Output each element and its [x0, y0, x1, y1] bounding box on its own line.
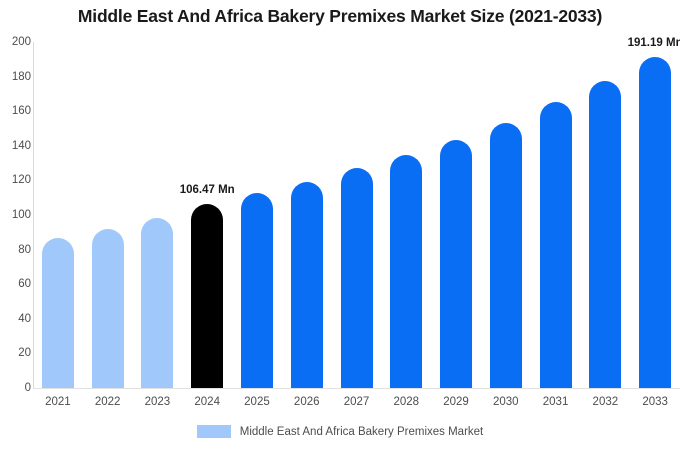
bar-value-label: 191.19 Mn	[628, 37, 680, 49]
x-axis-tick: 2024	[194, 396, 220, 408]
bar-value-label: 106.47 Mn	[180, 184, 235, 196]
legend-label: Middle East And Africa Bakery Premixes M…	[240, 426, 484, 438]
x-axis-tick: 2026	[294, 396, 320, 408]
bar-chart: Middle East And Africa Bakery Premixes M…	[0, 0, 680, 450]
bar[interactable]	[540, 102, 572, 388]
x-axis-tick: 2021	[45, 396, 71, 408]
bar[interactable]	[390, 155, 422, 388]
bar[interactable]	[92, 229, 124, 389]
x-axis-tick: 2033	[642, 396, 668, 408]
bar[interactable]	[341, 168, 373, 388]
x-axis-tick: 2027	[344, 396, 370, 408]
bar[interactable]	[639, 57, 671, 388]
x-axis-tick: 2030	[493, 396, 519, 408]
x-axis-tick: 2025	[244, 396, 270, 408]
bar[interactable]	[241, 193, 273, 388]
bar[interactable]	[440, 140, 472, 388]
legend-swatch	[197, 425, 231, 438]
x-axis-tick: 2028	[393, 396, 419, 408]
x-axis-tick: 2022	[95, 396, 121, 408]
x-axis-tick: 2029	[443, 396, 469, 408]
bar[interactable]	[291, 182, 323, 388]
x-axis-tick: 2032	[593, 396, 619, 408]
bar[interactable]	[141, 218, 173, 388]
x-axis-tick: 2031	[543, 396, 569, 408]
bar[interactable]	[42, 238, 74, 388]
bars-layer: 2021202220232024106.47 Mn202520262027202…	[0, 0, 680, 450]
bar[interactable]	[490, 123, 522, 388]
chart-legend: Middle East And Africa Bakery Premixes M…	[0, 425, 680, 438]
bar[interactable]	[589, 81, 621, 388]
x-axis-tick: 2023	[145, 396, 171, 408]
bar[interactable]	[191, 204, 223, 388]
